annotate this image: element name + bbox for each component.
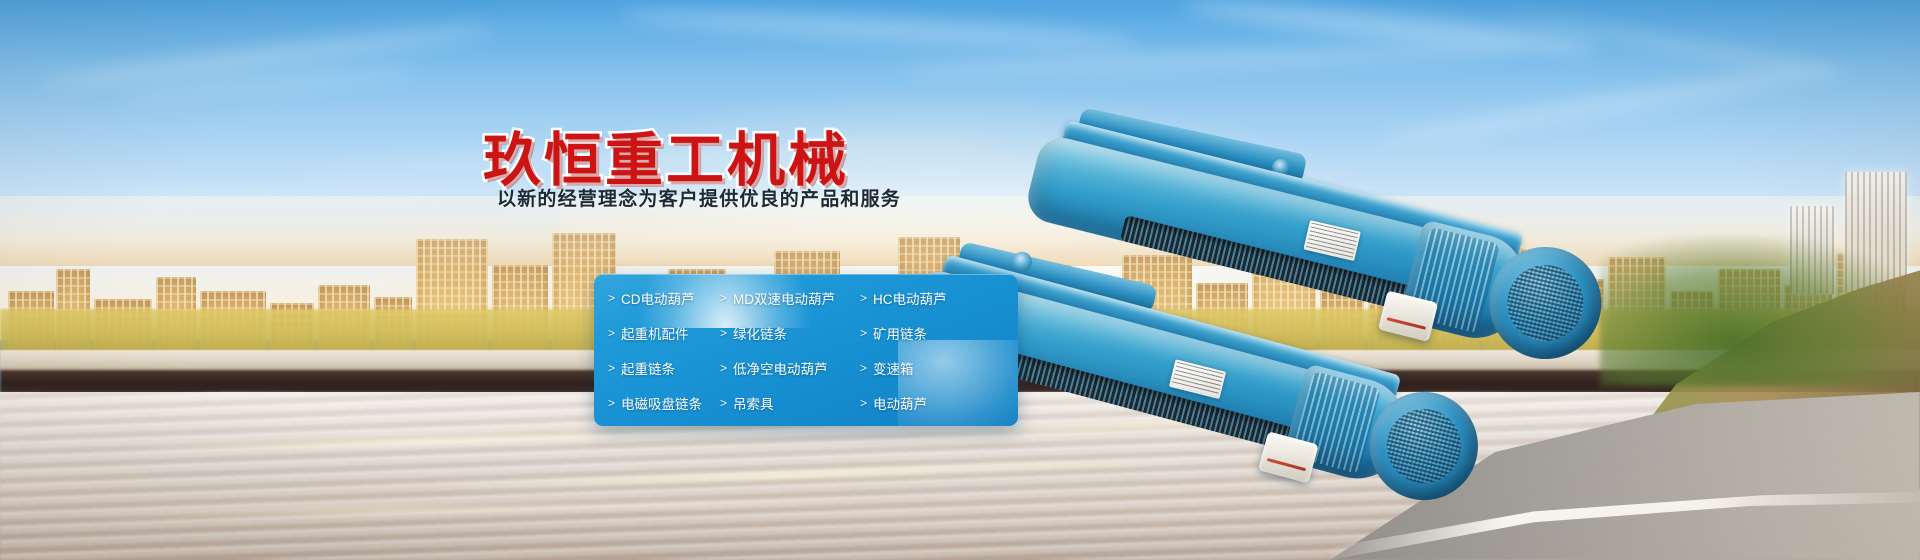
product-link-label: 电磁吸盘链条 bbox=[621, 393, 702, 413]
product-link-slings[interactable]: > 吊索具 bbox=[720, 393, 860, 413]
product-link-label: 低净空电动葫芦 bbox=[733, 358, 828, 378]
product-link-label: 电动葫芦 bbox=[873, 393, 927, 413]
product-link-cd-hoist[interactable]: > CD电动葫芦 bbox=[608, 288, 720, 308]
product-link-magnetic-chuck-chain[interactable]: > 电磁吸盘链条 bbox=[608, 393, 720, 413]
chevron-right-icon: > bbox=[720, 361, 727, 375]
product-link-mining-chain[interactable]: > 矿用链条 bbox=[860, 323, 990, 343]
chevron-right-icon: > bbox=[720, 326, 727, 340]
product-link-label: 矿用链条 bbox=[873, 323, 927, 343]
chevron-right-icon: > bbox=[720, 291, 727, 305]
product-links-grid: > CD电动葫芦 > MD双速电动葫芦 > HC电动葫芦 > 起重机配件 > 绿… bbox=[594, 274, 1018, 426]
product-link-lifting-chain[interactable]: > 起重链条 bbox=[608, 358, 720, 378]
product-link-label: 起重机配件 bbox=[621, 323, 689, 343]
product-link-md-dual-speed-hoist[interactable]: > MD双速电动葫芦 bbox=[720, 288, 860, 308]
product-link-hc-hoist[interactable]: > HC电动葫芦 bbox=[860, 288, 990, 308]
product-link-greening-chain[interactable]: > 绿化链条 bbox=[720, 323, 860, 343]
chevron-right-icon: > bbox=[720, 396, 727, 410]
chevron-right-icon: > bbox=[860, 361, 867, 375]
product-link-electric-hoist[interactable]: > 电动葫芦 bbox=[860, 393, 990, 413]
product-link-low-headroom-hoist[interactable]: > 低净空电动葫芦 bbox=[720, 358, 860, 378]
product-link-label: 吊索具 bbox=[733, 393, 774, 413]
product-links-panel: > CD电动葫芦 > MD双速电动葫芦 > HC电动葫芦 > 起重机配件 > 绿… bbox=[594, 274, 1018, 426]
chevron-right-icon: > bbox=[608, 361, 615, 375]
chevron-right-icon: > bbox=[608, 326, 615, 340]
product-link-label: 绿化链条 bbox=[733, 323, 787, 343]
promotional-banner: 玖恒重工机械 以新的经营理念为客户提供优良的产品和服务 > CD电动葫芦 > M… bbox=[0, 0, 1920, 560]
product-link-crane-parts[interactable]: > 起重机配件 bbox=[608, 323, 720, 343]
chevron-right-icon: > bbox=[860, 326, 867, 340]
page-subtitle: 以新的经营理念为客户提供优良的产品和服务 bbox=[497, 184, 901, 211]
product-link-label: CD电动葫芦 bbox=[621, 288, 695, 308]
product-link-label: MD双速电动葫芦 bbox=[733, 288, 835, 308]
product-link-label: HC电动葫芦 bbox=[873, 288, 947, 308]
chevron-right-icon: > bbox=[608, 291, 615, 305]
product-link-label: 变速箱 bbox=[873, 358, 914, 378]
chevron-right-icon: > bbox=[860, 396, 867, 410]
product-link-label: 起重链条 bbox=[621, 358, 675, 378]
product-link-gearbox[interactable]: > 变速箱 bbox=[860, 358, 990, 378]
chevron-right-icon: > bbox=[860, 291, 867, 305]
chevron-right-icon: > bbox=[608, 396, 615, 410]
